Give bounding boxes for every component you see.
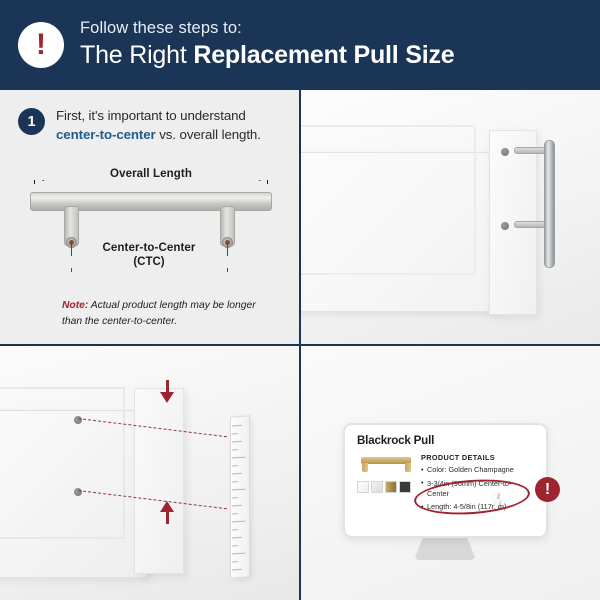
note-label: Note:	[62, 300, 88, 311]
removed-pull-post-bottom	[514, 221, 547, 228]
step-1-badge: 1	[18, 108, 45, 135]
screw-hole-top	[501, 148, 509, 156]
product-thumbnail-row	[357, 481, 411, 493]
measure-arrow-stem-bottom	[166, 510, 169, 524]
title-light: The Right	[80, 41, 193, 69]
ctc-label: Center-to-Center	[64, 242, 234, 254]
note-body: Actual product length may be longer than…	[62, 300, 256, 327]
infographic-root: ! Follow these steps to: The Right Repla…	[0, 0, 600, 600]
exclamation-glyph: !	[36, 30, 46, 60]
product-thumbnail[interactable]	[357, 481, 369, 493]
pull-dimension-diagram: Overall Length Center-to-Center	[22, 168, 280, 288]
ctc-sublabel: (CTC)	[64, 256, 234, 268]
step-1-text-bold: center-to-center	[56, 127, 156, 142]
product-image	[358, 455, 414, 472]
title-bold: Replacement Pull Size	[193, 41, 454, 69]
measure-arrow-up-icon	[160, 501, 174, 512]
alert-badge-icon: !	[535, 477, 560, 502]
step-1-head: 1 First, it's important to understand ce…	[0, 90, 299, 145]
step-panel-3: 3 Measure the distance between the cente…	[0, 346, 299, 600]
cabinet-door-panel	[301, 152, 499, 312]
cabinet-door-photo	[301, 90, 600, 344]
monitor-stand	[414, 538, 476, 560]
step-panel-2: 2 If you are replacing a pull, start by …	[301, 90, 600, 344]
step-1-text-b: vs. overall length.	[156, 127, 261, 142]
alert-badge-glyph: !	[545, 482, 550, 498]
measure-arrow-down-icon	[160, 392, 174, 403]
product-thumbnail[interactable]	[399, 481, 411, 493]
product-thumbnail[interactable]	[371, 481, 383, 493]
screw-hole-bottom	[501, 222, 509, 230]
alert-exclamation-icon: !	[18, 22, 64, 68]
step-1-text: First, it's important to understand cent…	[56, 107, 285, 145]
step-panel-1: 1 First, it's important to understand ce…	[0, 90, 299, 344]
overall-length-label: Overall Length	[22, 168, 280, 180]
ruler	[230, 415, 250, 578]
measure-stile	[134, 388, 184, 574]
product-details-heading: PRODUCT DETAILS	[421, 453, 495, 462]
removed-pull-post-top	[514, 147, 547, 154]
cabinet-door-inset	[301, 125, 476, 275]
header-text-group: Follow these steps to: The Right Replace…	[80, 19, 455, 69]
product-thumbnail[interactable]	[385, 481, 397, 493]
product-title: Blackrock Pull	[357, 434, 434, 447]
steps-grid: 1 First, it's important to understand ce…	[0, 88, 600, 600]
header-banner: ! Follow these steps to: The Right Repla…	[0, 0, 600, 88]
step-1-text-a: First, it's important to understand	[56, 108, 246, 123]
measure-door-inset	[0, 387, 125, 539]
page-title: The Right Replacement Pull Size	[80, 41, 455, 69]
header-kicker: Follow these steps to:	[80, 19, 455, 38]
step-panel-4: Blackrock Pull PRODUCT DETAILS Col	[301, 346, 600, 600]
product-page-photo: Blackrock Pull PRODUCT DETAILS Col	[301, 346, 600, 600]
measure-photo	[0, 346, 299, 600]
removed-pull-bar	[544, 140, 555, 268]
monitor-screen: Blackrock Pull PRODUCT DETAILS Col	[343, 423, 548, 538]
product-detail-item: Color: Golden Champagne	[421, 465, 517, 475]
step-1-note: Note: Actual product length may be longe…	[62, 298, 277, 330]
